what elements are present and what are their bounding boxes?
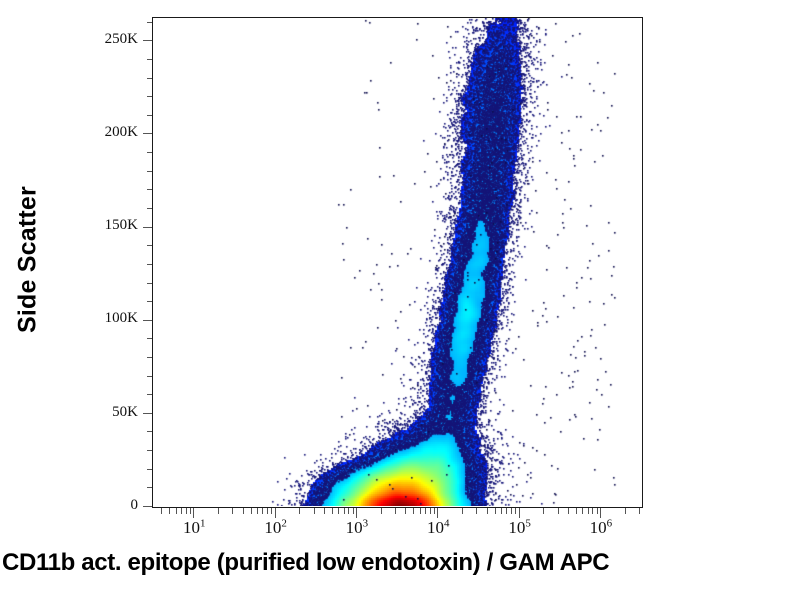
x-tick-minor	[543, 508, 544, 514]
x-tick-label: 101	[183, 518, 206, 538]
x-tick-minor	[476, 508, 477, 514]
x-tick-minor	[487, 508, 488, 514]
x-axis-title: CD11b act. epitope (purified low endotox…	[2, 549, 800, 577]
x-tick-minor	[413, 508, 414, 514]
x-tick-minor	[462, 508, 463, 514]
y-tick-label: 50K	[72, 404, 138, 421]
x-tick-minor	[344, 508, 345, 514]
x-tick-minor	[181, 508, 182, 514]
x-tick-minor	[395, 508, 396, 514]
x-tick-minor	[314, 508, 315, 514]
x-tick-minor	[597, 508, 598, 514]
x-tick-minor	[271, 508, 272, 514]
x-tick-minor	[257, 508, 258, 514]
x-tick-minor	[576, 508, 577, 514]
y-axis-title: Side Scatter	[14, 10, 43, 510]
x-tick-minor	[558, 508, 559, 514]
x-tick-label: 103	[346, 518, 369, 538]
y-tick-label: 200K	[72, 124, 138, 141]
x-tick-minor	[434, 508, 435, 514]
x-tick-minor	[506, 508, 507, 514]
density-scatter-canvas	[153, 18, 641, 506]
x-tick-minor	[425, 508, 426, 514]
x-tick-minor	[515, 508, 516, 514]
x-tick-minor	[639, 508, 640, 514]
x-tick-minor	[495, 508, 496, 514]
x-tick-major	[437, 508, 438, 518]
x-tick-minor	[568, 508, 569, 514]
x-tick-major	[519, 508, 520, 518]
x-tick-minor	[405, 508, 406, 514]
y-tick-label: 100K	[72, 310, 138, 327]
x-tick-minor	[161, 508, 162, 514]
x-tick-minor	[190, 508, 191, 514]
y-axis-tick-labels: 050K100K150K200K250K	[66, 0, 138, 600]
x-tick-label: 106	[590, 518, 613, 538]
y-tick-label: 250K	[72, 31, 138, 48]
x-tick-minor	[169, 508, 170, 514]
x-tick-minor	[582, 508, 583, 514]
x-tick-label: 105	[508, 518, 531, 538]
x-tick-minor	[232, 508, 233, 514]
x-tick-minor	[267, 508, 268, 514]
x-tick-minor	[176, 508, 177, 514]
x-tick-minor	[338, 508, 339, 514]
plot-area[interactable]	[152, 17, 643, 508]
x-tick-minor	[218, 508, 219, 514]
x-tick-minor	[348, 508, 349, 514]
x-tick-major	[193, 508, 194, 518]
x-tick-minor	[324, 508, 325, 514]
x-tick-major	[356, 508, 357, 518]
x-tick-minor	[625, 508, 626, 514]
x-tick-minor	[420, 508, 421, 514]
x-tick-label: 102	[264, 518, 287, 538]
x-tick-minor	[353, 508, 354, 514]
x-tick-minor	[299, 508, 300, 514]
x-tick-minor	[186, 508, 187, 514]
flow-cytometry-figure: Side Scatter 050K100K150K200K250K 101102…	[0, 0, 800, 600]
y-tick-label: 0	[72, 497, 138, 514]
x-tick-major	[275, 508, 276, 518]
x-tick-minor	[592, 508, 593, 514]
x-tick-label: 104	[427, 518, 450, 538]
x-tick-minor	[588, 508, 589, 514]
x-tick-minor	[501, 508, 502, 514]
y-tick-label: 150K	[72, 217, 138, 234]
x-tick-minor	[381, 508, 382, 514]
x-tick-major	[600, 508, 601, 518]
x-tick-minor	[332, 508, 333, 514]
x-tick-minor	[251, 508, 252, 514]
x-tick-minor	[243, 508, 244, 514]
x-tick-minor	[430, 508, 431, 514]
x-tick-minor	[262, 508, 263, 514]
x-tick-minor	[511, 508, 512, 514]
